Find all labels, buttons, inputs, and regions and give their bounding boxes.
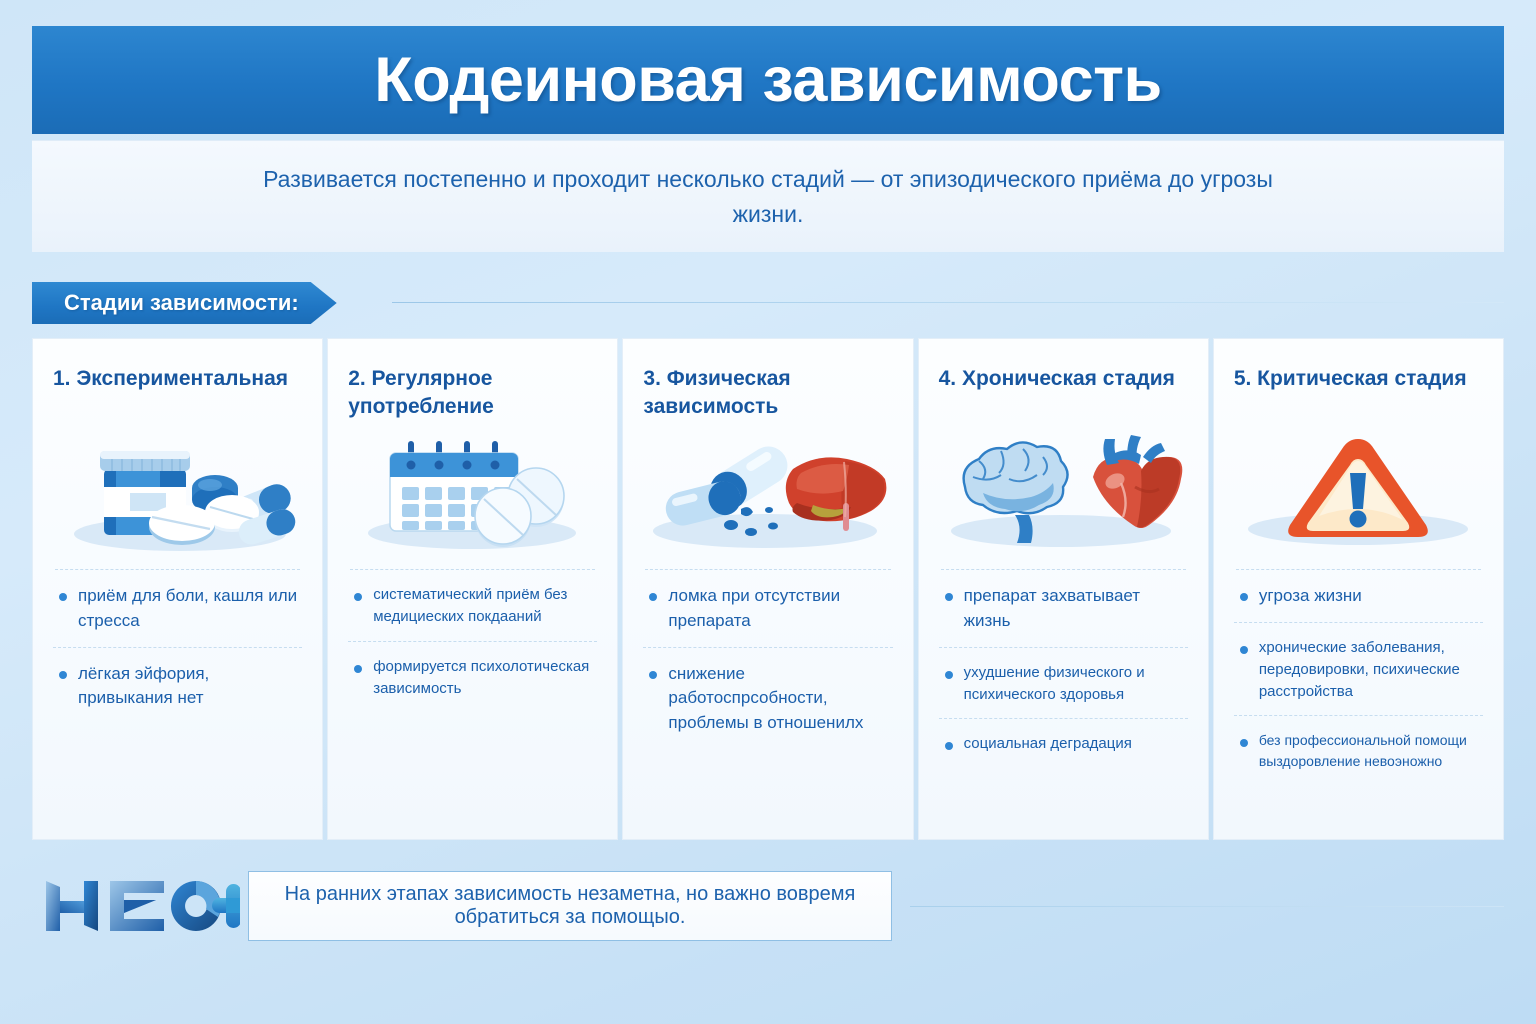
stage-card-title: 2. Регулярное употребление	[348, 365, 597, 423]
bullet-text: формируется психолотическая зависимость	[373, 656, 597, 700]
section-header-row: Стадии зависимости:	[32, 282, 1504, 324]
bullet-dot-icon	[1240, 646, 1248, 654]
bullet-dot-icon	[354, 593, 362, 601]
footer-rule	[910, 906, 1504, 907]
bullet-item: без профессиональной помощи выздоровлени…	[1234, 715, 1483, 784]
subtitle-panel: Развивается постепенно и проходит нескол…	[32, 140, 1504, 252]
stage-card-1[interactable]: 1. Экспериментальная	[32, 338, 323, 840]
bullet-text: хронические заболевания, передовировки, …	[1259, 637, 1483, 703]
bullet-item: лёгкая эйфория, привыкания нет	[53, 647, 302, 725]
stage-bullets: ломка при отсутствии препарата снижение …	[643, 570, 892, 749]
footer-note-text: На ранних этапах зависимость незаметна, …	[273, 883, 867, 929]
bullet-dot-icon	[59, 593, 67, 601]
stage-card-title: 4. Хроническая стадия	[939, 365, 1188, 423]
footer: На ранних этапах зависимость незаметна, …	[32, 858, 1504, 954]
capsule-liver-icon	[643, 427, 892, 559]
page-title: Кодеиновая зависимость	[374, 44, 1161, 116]
bullet-dot-icon	[649, 671, 657, 679]
bullet-dot-icon	[59, 671, 67, 679]
bullet-text: лёгкая эйфория, привыкания нет	[78, 662, 302, 712]
bullet-item: снижение работоспрсобности, проблемы в о…	[643, 647, 892, 749]
bullet-dot-icon	[649, 593, 657, 601]
bullet-dot-icon	[945, 593, 953, 601]
bullet-item: систематический приём без медициеских по…	[348, 570, 597, 641]
bullet-item: ухудшение физического и психического здо…	[939, 647, 1188, 719]
bullet-item: хронические заболевания, передовировки, …	[1234, 622, 1483, 716]
brain-heart-icon	[939, 427, 1188, 559]
bullet-text: снижение работоспрсобности, проблемы в о…	[668, 662, 892, 736]
bullet-item: формируется психолотическая зависимость	[348, 641, 597, 713]
pill-bottle-icon	[53, 427, 302, 559]
bullet-text: приём для боли, кашля или стресса	[78, 584, 302, 634]
subtitle-text: Развивается постепенно и проходит нескол…	[258, 162, 1278, 232]
bullet-dot-icon	[354, 665, 362, 673]
stage-bullets: систематический приём без медициеских по…	[348, 570, 597, 713]
bullet-text: без профессиональной помощи выздоровлени…	[1259, 730, 1483, 771]
bullet-dot-icon	[945, 671, 953, 679]
neo-plus-logo	[32, 873, 248, 939]
stage-card-3[interactable]: 3. Физическая зависимость	[622, 338, 913, 840]
stage-bullets: угроза жизни хронические заболевания, пе…	[1234, 570, 1483, 784]
bullet-item: приём для боли, кашля или стресса	[53, 570, 302, 647]
stage-bullets: приём для боли, кашля или стресса лёгкая…	[53, 570, 302, 724]
bullet-text: препарат захватывает жизнь	[964, 584, 1188, 634]
bullet-item: препарат захватывает жизнь	[939, 570, 1188, 647]
bullet-item: социальная деградация	[939, 718, 1188, 768]
header-banner: Кодеиновая зависимость	[32, 26, 1504, 134]
stage-card-title: 3. Физическая зависимость	[643, 365, 892, 423]
bullet-item: ломка при отсутствии препарата	[643, 570, 892, 647]
stage-card-title: 5. Критическая стадия	[1234, 365, 1483, 423]
bullet-dot-icon	[945, 742, 953, 750]
stage-bullets: препарат захватывает жизнь ухудшение физ…	[939, 570, 1188, 768]
stage-card-5[interactable]: 5. Критическая стадия угроза жизни хрони…	[1213, 338, 1504, 840]
section-tab: Стадии зависимости:	[32, 282, 337, 324]
stages-grid: 1. Экспериментальная	[32, 338, 1504, 840]
stage-card-2[interactable]: 2. Регулярное употребление	[327, 338, 618, 840]
calendar-pills-icon	[348, 427, 597, 559]
stage-card-4[interactable]: 4. Хроническая стадия	[918, 338, 1209, 840]
bullet-text: систематический приём без медициеских по…	[373, 584, 597, 628]
bullet-item: угроза жизни	[1234, 570, 1483, 622]
bullet-text: угроза жизни	[1259, 584, 1362, 609]
bullet-text: ухудшение физического и психического здо…	[964, 662, 1188, 706]
bullet-dot-icon	[1240, 593, 1248, 601]
bullet-text: социальная деградация	[964, 733, 1132, 755]
bullet-dot-icon	[1240, 739, 1248, 747]
bullet-text: ломка при отсутствии препарата	[668, 584, 892, 634]
warning-triangle-icon	[1234, 427, 1483, 559]
stage-card-title: 1. Экспериментальная	[53, 365, 302, 423]
footer-note-banner: На ранних этапах зависимость незаметна, …	[248, 871, 892, 941]
section-rule	[392, 302, 1504, 303]
section-tab-label: Стадии зависимости:	[64, 290, 299, 316]
